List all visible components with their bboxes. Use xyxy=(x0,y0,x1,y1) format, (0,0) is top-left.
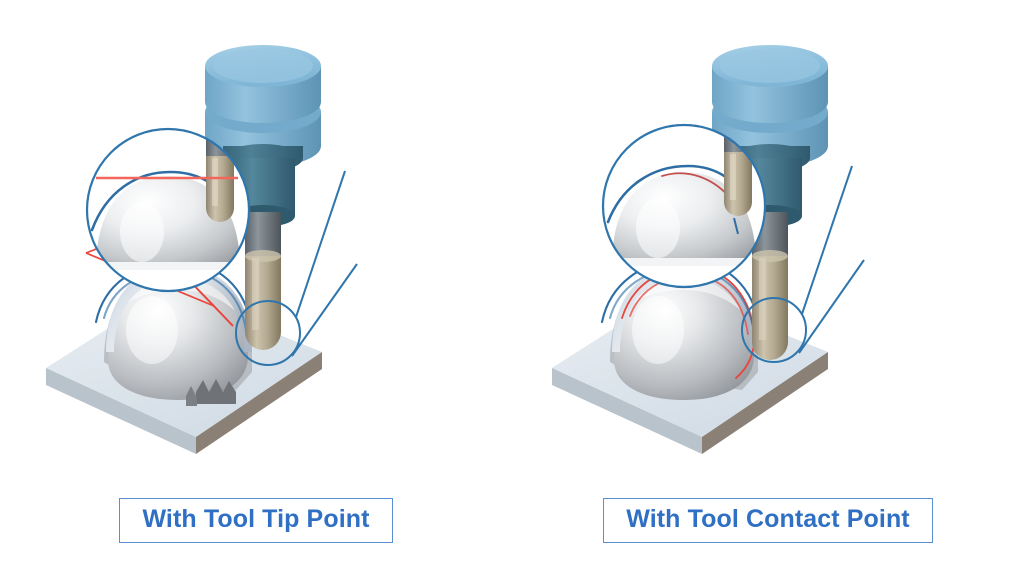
panel-tool-contact-point: With Tool Contact Point xyxy=(512,0,1024,563)
caption-wrap-right: With Tool Contact Point xyxy=(512,498,1024,543)
caption-wrap-left: With Tool Tip Point xyxy=(0,498,512,543)
caption-box-tool-contact-point: With Tool Contact Point xyxy=(603,498,933,543)
caption-label-tool-tip-point: With Tool Tip Point xyxy=(142,505,369,533)
caption-label-tool-contact-point: With Tool Contact Point xyxy=(626,505,910,533)
figure-root: With Tool Tip Point xyxy=(0,0,1024,563)
illustration-tool-tip-point xyxy=(0,0,512,490)
detail-view-circle xyxy=(86,128,250,292)
illustration-tool-contact-point xyxy=(512,0,1024,490)
panel-tool-tip-point: With Tool Tip Point xyxy=(0,0,512,563)
detail-view-circle xyxy=(602,124,766,288)
caption-box-tool-tip-point: With Tool Tip Point xyxy=(119,498,392,543)
